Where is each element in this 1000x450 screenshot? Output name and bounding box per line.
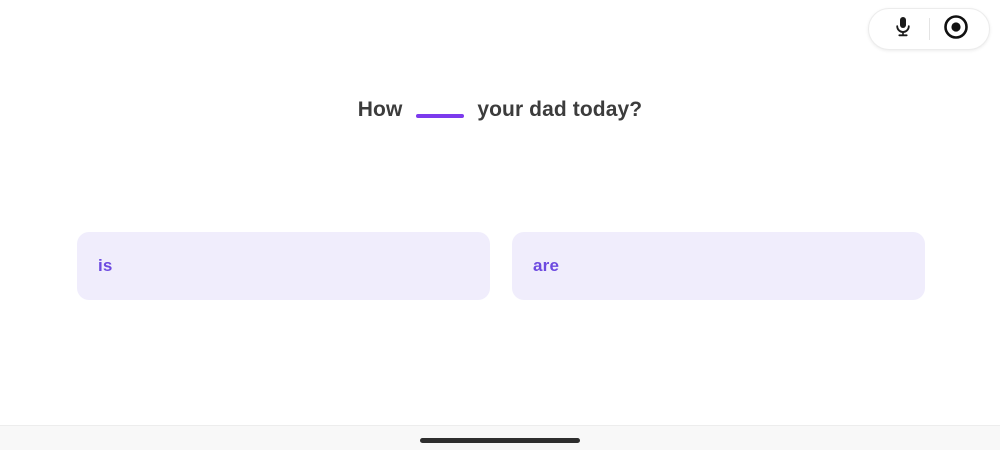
answer-options: is are bbox=[77, 232, 925, 300]
answer-option-label: are bbox=[512, 256, 559, 276]
question-text-after: your dad today? bbox=[477, 98, 642, 122]
question-text-before: How bbox=[358, 98, 403, 122]
microphone-icon bbox=[893, 15, 913, 44]
record-button[interactable] bbox=[930, 9, 982, 49]
microphone-button[interactable] bbox=[877, 9, 929, 49]
record-icon bbox=[943, 14, 969, 45]
audio-control-pill bbox=[868, 8, 990, 50]
answer-option-is[interactable]: is bbox=[77, 232, 490, 300]
answer-option-are[interactable]: are bbox=[512, 232, 925, 300]
answer-option-label: is bbox=[77, 256, 113, 276]
top-toolbar bbox=[0, 0, 1000, 60]
answer-blank bbox=[416, 114, 464, 118]
question-prompt: How your dad today? bbox=[0, 98, 1000, 122]
app-screen: How your dad today? is are bbox=[0, 0, 1000, 450]
system-bottom-bar bbox=[0, 425, 1000, 450]
home-indicator[interactable] bbox=[420, 438, 580, 443]
